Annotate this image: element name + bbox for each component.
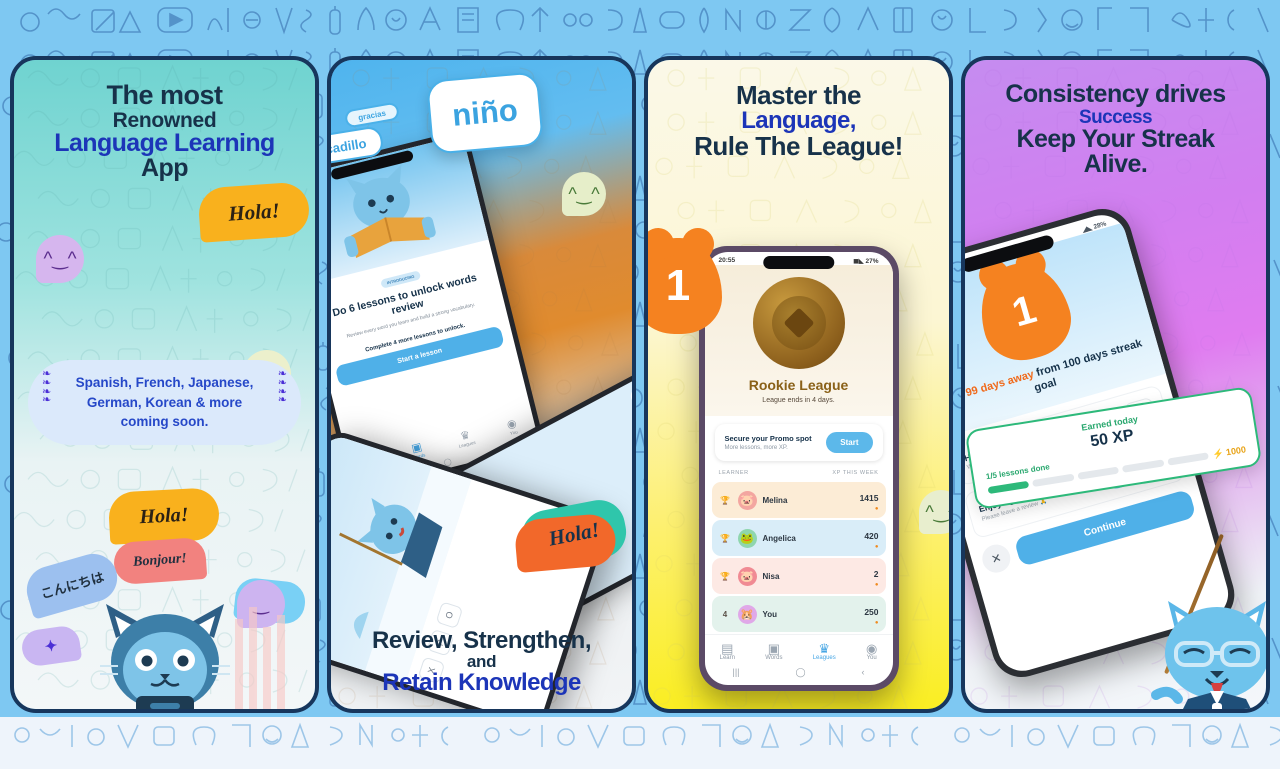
xp-bolt-badge: ⚡ 1000 [1212, 444, 1247, 460]
table-row[interactable]: 🏆 🐷 Melina 1415● [712, 482, 886, 518]
table-row[interactable]: 🏆 🐷 Nisa 2● [712, 558, 886, 594]
avatar: 🐷 [738, 491, 757, 510]
back-icon[interactable]: ‹ [862, 667, 865, 678]
headline-line-1: The most [24, 82, 305, 110]
chip-nino: niño [426, 71, 544, 154]
nav-words-label: Words [765, 655, 782, 661]
hola-bubble-top: Hola! [197, 181, 310, 243]
row-name: Melina [763, 496, 854, 505]
promo-start-button[interactable]: Start [826, 432, 872, 453]
sparkle-bubble: ✦ [20, 624, 82, 668]
avatar: 🐹 [738, 605, 757, 624]
row-xp: 2● [874, 564, 879, 588]
trophy-silver-icon: 🏆 [719, 534, 732, 543]
headline-line-2: and [337, 653, 626, 670]
android-system-bar[interactable]: ||| ◯ ‹ [705, 664, 893, 684]
phone-mockup-leagues[interactable]: 20:55 ◼◣ 27% Rookie League League ends i… [699, 246, 899, 691]
row-xp: 250● [864, 602, 878, 626]
row-name: You [763, 610, 859, 619]
streak-message-highlight: 99 days away [964, 368, 1035, 399]
progress-segment [1122, 459, 1164, 472]
col-xp: XP THIS WEEK [832, 470, 878, 476]
league-ends: League ends in 4 days. [705, 397, 893, 404]
league-name: Rookie League [705, 377, 893, 393]
promo-card[interactable]: Secure your Promo spot More lessons, mor… [715, 424, 883, 461]
row-rank: 4 [719, 610, 732, 619]
promo-title: Secure your Promo spot [725, 434, 812, 443]
progress-segment [988, 481, 1030, 494]
row-xp: 1415● [860, 488, 879, 512]
headline-line-2: Renowned [24, 110, 305, 131]
smiley-green-outline-icon: ^‿^ [919, 490, 953, 534]
progress-segment [1032, 474, 1074, 487]
home-icon[interactable]: ◯ [795, 667, 805, 678]
row-xp: 420● [864, 526, 878, 550]
bonjour-bubble: Bonjour! [113, 537, 208, 585]
smiley-purple-icon: ^‿^ [36, 235, 84, 283]
panel-2[interactable]: INTRODUCING Do 6 lessons to unlock words… [327, 56, 636, 713]
languages-pill: Spanish, French, Japanese, German, Korea… [28, 360, 301, 445]
headline-line-2: Success [975, 108, 1256, 127]
table-row[interactable]: 4 🐹 You 250● [712, 596, 886, 632]
xp-coin-icon: ● [860, 506, 879, 512]
hola-bubble-bottom: Hola! [108, 487, 221, 545]
col-learner: LEARNER [719, 470, 749, 476]
trophy-gold-icon: 🏆 [719, 496, 732, 505]
status-time: 20:55 [719, 257, 736, 265]
nav-leagues-label: Leagues [813, 655, 836, 661]
status-battery: ◼◣ 27% [853, 257, 878, 265]
headline-line-3: Language Learning [24, 131, 305, 157]
recents-icon[interactable]: ||| [732, 667, 739, 678]
nav-learn-label: Learn [720, 655, 735, 661]
league-hero: Rookie League League ends in 4 days. [705, 265, 893, 416]
nav-you-label: You [510, 429, 519, 436]
wheat-left-icon: ❧❧❧❧ [42, 370, 51, 405]
row-xp-value: 250 [864, 607, 878, 617]
row-xp-value: 2 [874, 569, 879, 579]
avatar: 🐷 [738, 567, 757, 586]
chip-gracias: gracias [344, 101, 400, 128]
headline-line-2: Language, [658, 109, 939, 133]
nav-leagues[interactable]: ♛Leagues [813, 642, 836, 661]
close-icon[interactable]: ✕ [979, 541, 1014, 576]
promo-subtitle: More lessons, more XP. [725, 445, 812, 451]
trophy-bronze-icon: 🏆 [719, 572, 732, 581]
cat-teacher-mascot-icon [1148, 591, 1270, 713]
headline-line-1: Consistency drives [975, 82, 1256, 108]
nav-you-label: You [867, 655, 877, 661]
xp-coin-icon: ● [864, 620, 878, 626]
battery-pct: 27% [865, 258, 878, 265]
panel-1-headline: The most Renowned Language Learning App [14, 60, 315, 182]
headline-line-3: Retain Knowledge [337, 671, 626, 695]
pink-stripes-decoration [233, 601, 289, 709]
headline-line-4: App [24, 156, 305, 182]
panel-4-headline: Consistency drives Success Keep Your Str… [965, 60, 1266, 178]
table-row[interactable]: 🏆 🐸 Angelica 420● [712, 520, 886, 556]
row-xp-value: 1415 [860, 493, 879, 503]
headline-line-1: Review, Strengthen, [337, 629, 626, 653]
phone-3-screen[interactable]: 20:55 ◼◣ 27% Rookie League League ends i… [705, 252, 893, 685]
person-icon: ◉ [866, 642, 877, 655]
dynamic-island [763, 256, 834, 269]
progress-segment [1167, 452, 1209, 465]
nav-you[interactable]: ◉You [506, 418, 519, 436]
xp-coin-icon: ● [874, 582, 879, 588]
book-icon: ▤ [720, 642, 735, 655]
wheat-right-icon: ❧❧❧❧ [278, 370, 287, 405]
headline-line-1: Master the [658, 82, 939, 109]
nav-words[interactable]: ▣Words [765, 642, 782, 661]
row-name: Nisa [763, 572, 868, 581]
headline-line-3-text: Rule The League! [694, 131, 903, 161]
headline-line-3: Rule The League! [658, 133, 939, 160]
headline-line-4: Alive. [975, 152, 1256, 178]
cards-icon: ▣ [765, 642, 782, 655]
nav-you[interactable]: ◉You [866, 642, 877, 661]
row-xp-value: 420 [864, 531, 878, 541]
streak-flame-icon: 1 [969, 253, 1080, 370]
bolt-value: 1000 [1225, 444, 1246, 457]
headline-line-3: Keep Your Streak [975, 127, 1256, 153]
nav-learn[interactable]: ▤Learn [720, 642, 735, 661]
league-medal-icon [753, 277, 845, 369]
progress-segment [1077, 466, 1119, 479]
keycap-o[interactable]: O [436, 601, 464, 629]
phrase-card: NEW PHRASE Buenas noches Good night / Go… [628, 369, 636, 529]
xp-coin-icon: ● [864, 544, 878, 550]
cat-mascot-icon [90, 590, 240, 713]
bottom-nav[interactable]: ▤Learn ▣Words ♛Leagues ◉You [705, 634, 893, 664]
panel-4[interactable]: Consistency drives Success Keep Your Str… [961, 56, 1270, 713]
streak-flame-badge: 1 [644, 238, 722, 334]
row-name: Angelica [763, 534, 859, 543]
leaderboard-header: LEARNER XP THIS WEEK [705, 461, 893, 480]
trophy-icon: ♛ [813, 642, 836, 655]
nav-leagues[interactable]: ♛Leagues [456, 429, 477, 449]
avatar: 🐸 [738, 529, 757, 548]
smiley-green-outline-icon: ^‿^ [562, 172, 606, 216]
panel-3-headline: Master the Language, Rule The League! [648, 60, 949, 160]
panel-1[interactable]: The most Renowned Language Learning App … [10, 56, 319, 713]
panel-3[interactable]: Master the Language, Rule The League! 1 … [644, 56, 953, 713]
panel-2-headline: Review, Strengthen, and Retain Knowledge [331, 629, 632, 695]
